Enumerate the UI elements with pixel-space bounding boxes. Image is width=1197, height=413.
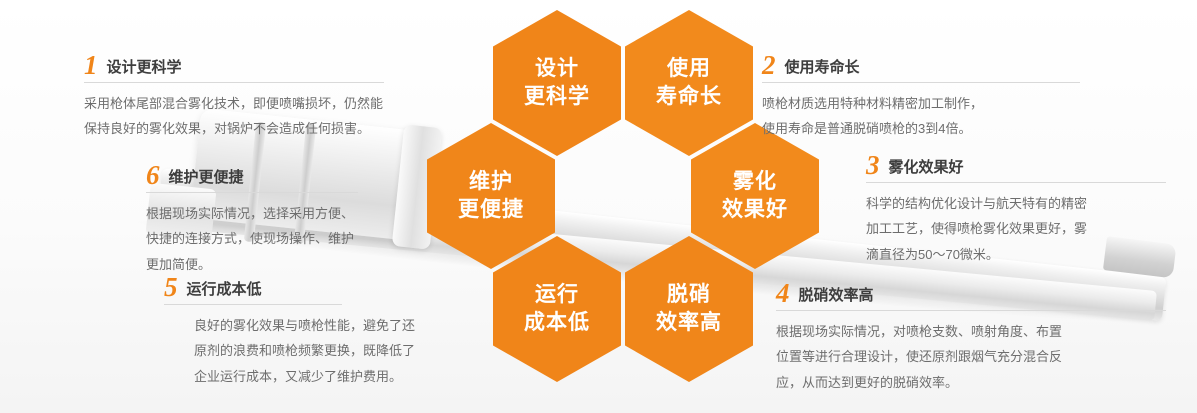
callout-design-title: 设计更科学 (107, 60, 182, 77)
callout-denitrification-header: 4 脱硝效率高 (776, 278, 1166, 311)
callout-denitrification-title: 脱硝效率高 (799, 288, 874, 305)
callout-atomization: 3 雾化效果好 科学的结构优化设计与航天特有的精密 加工工艺，使得喷枪雾化效果更… (866, 150, 1196, 267)
hexagon-maintenance-line2: 更便捷 (458, 196, 524, 224)
callout-design: 1 设计更科学 采用枪体尾部混合雾化技术，即便喷嘴损坏，仍然能 保持良好的雾化效… (84, 50, 414, 142)
hexagon-design-line1: 设计 (535, 55, 579, 83)
callout-life-header: 2 使用寿命长 (762, 50, 1080, 83)
callout-maintenance-line-1: 根据现场实际情况，选择采用方便、 (146, 201, 396, 226)
callout-atomization-line-1: 科学的结构优化设计与航天特有的精密 (866, 191, 1196, 216)
hexagon-denitrification[interactable]: 脱硝 效率高 (625, 236, 753, 382)
hexagon-cost-line2: 成本低 (524, 309, 590, 337)
hexagon-life[interactable]: 使用 寿命长 (625, 10, 753, 156)
callout-maintenance-number: 6 (146, 162, 160, 189)
hexagon-denitrification-line2: 效率高 (656, 309, 722, 337)
hexagon-atomization[interactable]: 雾化 效果好 (691, 123, 819, 269)
callout-cost-line-1: 良好的雾化效果与喷枪性能，避免了还 (194, 313, 424, 338)
callout-maintenance: 6 维护更便捷 根据现场实际情况，选择采用方便、 快捷的连接方式，使现场操作、维… (146, 160, 396, 277)
callout-cost-title: 运行成本低 (187, 282, 262, 299)
hexagon-atomization-line2: 效果好 (722, 196, 788, 224)
callout-design-body: 采用枪体尾部混合雾化技术，即便喷嘴损坏，仍然能 保持良好的雾化效果，对锅炉不会造… (84, 91, 414, 142)
hexagon-atomization-line1: 雾化 (733, 168, 777, 196)
callout-denitrification-body: 根据现场实际情况，对喷枪支数、喷射角度、布置 位置等进行合理设计，使还原剂跟烟气… (776, 319, 1196, 395)
callout-life-line-2: 使用寿命是普通脱硝喷枪的3到4倍。 (762, 116, 1112, 141)
callout-denitrification-line-3: 应，从而达到更好的脱硝效率。 (776, 370, 1196, 395)
callout-cost-line-3: 企业运行成本，又减少了维护费用。 (194, 364, 424, 389)
callout-atomization-body: 科学的结构优化设计与航天特有的精密 加工工艺，使得喷枪雾化效果更好，雾 滴直径为… (866, 191, 1196, 267)
callout-cost-body: 良好的雾化效果与喷枪性能，避免了还 原剂的浪费和喷枪频繁更换，既降低了 企业运行… (164, 313, 424, 389)
callout-life: 2 使用寿命长 喷枪材质选用特种材料精密加工制作， 使用寿命是普通脱硝喷枪的3到… (762, 50, 1112, 142)
callout-atomization-title: 雾化效果好 (889, 160, 964, 177)
hexagon-design[interactable]: 设计 更科学 (493, 10, 621, 156)
callout-design-number: 1 (84, 52, 98, 79)
hexagon-life-line2: 寿命长 (656, 83, 722, 111)
callout-life-title: 使用寿命长 (785, 60, 860, 77)
callout-maintenance-header: 6 维护更便捷 (146, 160, 358, 193)
callout-maintenance-line-2: 快捷的连接方式，使现场操作、维护 (146, 226, 396, 251)
callout-atomization-number: 3 (866, 152, 880, 179)
callout-cost-header: 5 运行成本低 (164, 272, 342, 305)
callout-denitrification: 4 脱硝效率高 根据现场实际情况，对喷枪支数、喷射角度、布置 位置等进行合理设计… (776, 278, 1196, 395)
callout-atomization-header: 3 雾化效果好 (866, 150, 1166, 183)
callout-maintenance-title: 维护更便捷 (169, 170, 244, 187)
hexagon-life-line1: 使用 (667, 55, 711, 83)
callout-atomization-line-3: 滴直径为50～70微米。 (866, 242, 1196, 267)
hexagon-denitrification-line1: 脱硝 (667, 281, 711, 309)
callout-design-header: 1 设计更科学 (84, 50, 384, 83)
callout-cost-line-2: 原剂的浪费和喷枪频繁更换，既降低了 (194, 338, 424, 363)
hexagon-maintenance-line1: 维护 (469, 168, 513, 196)
callout-denitrification-line-1: 根据现场实际情况，对喷枪支数、喷射角度、布置 (776, 319, 1196, 344)
hexagon-maintenance[interactable]: 维护 更便捷 (427, 123, 555, 269)
callout-maintenance-body: 根据现场实际情况，选择采用方便、 快捷的连接方式，使现场操作、维护 更加简便。 (146, 201, 396, 277)
callout-life-line-1: 喷枪材质选用特种材料精密加工制作， (762, 91, 1112, 116)
hexagon-cost[interactable]: 运行 成本低 (493, 236, 621, 382)
callout-life-number: 2 (762, 52, 776, 79)
callout-design-line-2: 保持良好的雾化效果，对锅炉不会造成任何损害。 (84, 116, 414, 141)
hexagon-cost-line1: 运行 (535, 281, 579, 309)
callout-denitrification-line-2: 位置等进行合理设计，使还原剂跟烟气充分混合反 (776, 344, 1196, 369)
callout-atomization-line-2: 加工工艺，使得喷枪雾化效果更好，雾 (866, 216, 1196, 241)
callout-cost: 5 运行成本低 良好的雾化效果与喷枪性能，避免了还 原剂的浪费和喷枪频繁更换，既… (164, 272, 424, 389)
callout-cost-number: 5 (164, 274, 178, 301)
hexagon-design-line2: 更科学 (524, 83, 590, 111)
callout-life-body: 喷枪材质选用特种材料精密加工制作， 使用寿命是普通脱硝喷枪的3到4倍。 (762, 91, 1112, 142)
callout-design-line-1: 采用枪体尾部混合雾化技术，即便喷嘴损坏，仍然能 (84, 91, 414, 116)
callout-denitrification-number: 4 (776, 280, 790, 307)
